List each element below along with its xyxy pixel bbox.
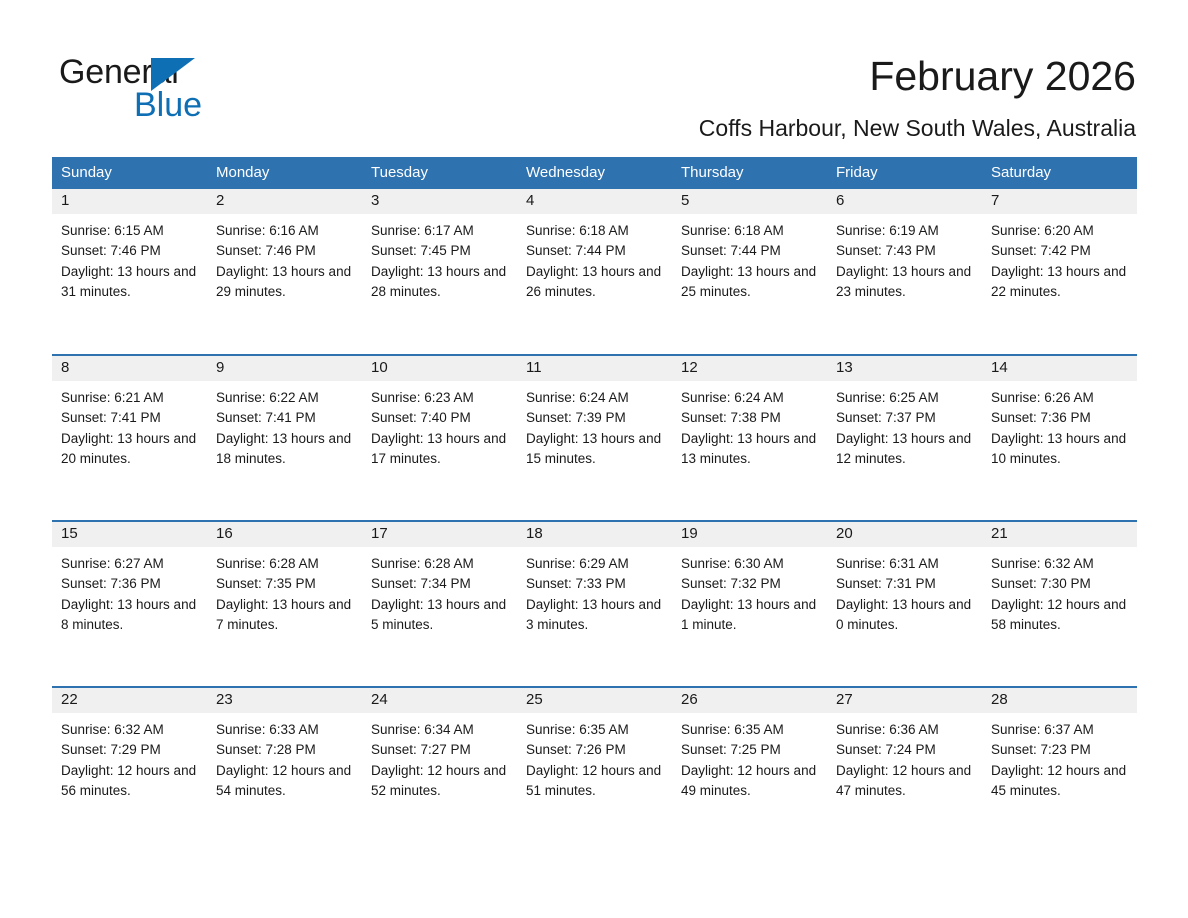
day-details: Sunrise: 6:18 AM Sunset: 7:44 PM Dayligh… [517, 214, 672, 302]
day-cell[interactable]: 10 Sunrise: 6:23 AM Sunset: 7:40 PM Dayl… [362, 355, 517, 521]
calendar-week-row: 22 Sunrise: 6:32 AM Sunset: 7:29 PM Dayl… [52, 687, 1137, 853]
sunrise-text: Sunrise: 6:35 AM [681, 720, 821, 740]
sunrise-text: Sunrise: 6:35 AM [526, 720, 666, 740]
sunrise-text: Sunrise: 6:31 AM [836, 554, 976, 574]
sunrise-text: Sunrise: 6:29 AM [526, 554, 666, 574]
sunrise-text: Sunrise: 6:27 AM [61, 554, 201, 574]
sunset-text: Sunset: 7:44 PM [526, 241, 666, 261]
daylight-text: Daylight: 13 hours and 5 minutes. [371, 595, 511, 636]
day-cell[interactable]: 16 Sunrise: 6:28 AM Sunset: 7:35 PM Dayl… [207, 521, 362, 687]
day-details: Sunrise: 6:31 AM Sunset: 7:31 PM Dayligh… [827, 547, 982, 635]
day-cell[interactable]: 11 Sunrise: 6:24 AM Sunset: 7:39 PM Dayl… [517, 355, 672, 521]
day-cell[interactable]: 7 Sunrise: 6:20 AM Sunset: 7:42 PM Dayli… [982, 189, 1137, 355]
calendar-page: General Blue February 2026 Coffs Harbour… [0, 0, 1188, 918]
day-number: 24 [362, 688, 517, 713]
daylight-text: Daylight: 13 hours and 23 minutes. [836, 262, 976, 303]
day-details: Sunrise: 6:24 AM Sunset: 7:39 PM Dayligh… [517, 381, 672, 469]
daylight-text: Daylight: 13 hours and 18 minutes. [216, 429, 356, 470]
sunset-text: Sunset: 7:31 PM [836, 574, 976, 594]
sunset-text: Sunset: 7:36 PM [61, 574, 201, 594]
daylight-text: Daylight: 12 hours and 52 minutes. [371, 761, 511, 802]
day-number: 6 [827, 189, 982, 214]
day-details: Sunrise: 6:21 AM Sunset: 7:41 PM Dayligh… [52, 381, 207, 469]
calendar-header-row: Sunday Monday Tuesday Wednesday Thursday… [52, 157, 1137, 189]
day-number: 9 [207, 356, 362, 381]
day-cell[interactable]: 3 Sunrise: 6:17 AM Sunset: 7:45 PM Dayli… [362, 189, 517, 355]
day-number: 4 [517, 189, 672, 214]
day-details: Sunrise: 6:28 AM Sunset: 7:35 PM Dayligh… [207, 547, 362, 635]
daylight-text: Daylight: 13 hours and 31 minutes. [61, 262, 201, 303]
day-details: Sunrise: 6:36 AM Sunset: 7:24 PM Dayligh… [827, 713, 982, 801]
day-cell[interactable]: 9 Sunrise: 6:22 AM Sunset: 7:41 PM Dayli… [207, 355, 362, 521]
sunset-text: Sunset: 7:37 PM [836, 408, 976, 428]
daylight-text: Daylight: 13 hours and 12 minutes. [836, 429, 976, 470]
day-number: 19 [672, 522, 827, 547]
day-number: 27 [827, 688, 982, 713]
day-cell[interactable]: 25 Sunrise: 6:35 AM Sunset: 7:26 PM Dayl… [517, 687, 672, 853]
daylight-text: Daylight: 13 hours and 26 minutes. [526, 262, 666, 303]
day-cell[interactable]: 22 Sunrise: 6:32 AM Sunset: 7:29 PM Dayl… [52, 687, 207, 853]
sunset-text: Sunset: 7:38 PM [681, 408, 821, 428]
daylight-text: Daylight: 12 hours and 51 minutes. [526, 761, 666, 802]
day-number: 2 [207, 189, 362, 214]
day-cell[interactable]: 1 Sunrise: 6:15 AM Sunset: 7:46 PM Dayli… [52, 189, 207, 355]
sunrise-text: Sunrise: 6:22 AM [216, 388, 356, 408]
weekday-header-monday: Monday [207, 157, 362, 189]
sunset-text: Sunset: 7:45 PM [371, 241, 511, 261]
daylight-text: Daylight: 13 hours and 15 minutes. [526, 429, 666, 470]
daylight-text: Daylight: 13 hours and 8 minutes. [61, 595, 201, 636]
weekday-header-wednesday: Wednesday [517, 157, 672, 189]
day-details: Sunrise: 6:35 AM Sunset: 7:25 PM Dayligh… [672, 713, 827, 801]
page-title: February 2026 [869, 52, 1136, 100]
daylight-text: Daylight: 13 hours and 20 minutes. [61, 429, 201, 470]
daylight-text: Daylight: 12 hours and 56 minutes. [61, 761, 201, 802]
day-number: 20 [827, 522, 982, 547]
day-number: 18 [517, 522, 672, 547]
daylight-text: Daylight: 13 hours and 3 minutes. [526, 595, 666, 636]
calendar-body: 1 Sunrise: 6:15 AM Sunset: 7:46 PM Dayli… [52, 189, 1137, 853]
day-cell[interactable]: 28 Sunrise: 6:37 AM Sunset: 7:23 PM Dayl… [982, 687, 1137, 853]
sunset-text: Sunset: 7:36 PM [991, 408, 1131, 428]
day-details: Sunrise: 6:18 AM Sunset: 7:44 PM Dayligh… [672, 214, 827, 302]
day-number: 3 [362, 189, 517, 214]
sunset-text: Sunset: 7:28 PM [216, 740, 356, 760]
daylight-text: Daylight: 13 hours and 7 minutes. [216, 595, 356, 636]
day-details: Sunrise: 6:33 AM Sunset: 7:28 PM Dayligh… [207, 713, 362, 801]
sunrise-text: Sunrise: 6:17 AM [371, 221, 511, 241]
sunrise-text: Sunrise: 6:28 AM [371, 554, 511, 574]
sunrise-text: Sunrise: 6:23 AM [371, 388, 511, 408]
daylight-text: Daylight: 13 hours and 28 minutes. [371, 262, 511, 303]
day-details: Sunrise: 6:20 AM Sunset: 7:42 PM Dayligh… [982, 214, 1137, 302]
sunset-text: Sunset: 7:46 PM [216, 241, 356, 261]
day-number: 5 [672, 189, 827, 214]
calendar-week-row: 1 Sunrise: 6:15 AM Sunset: 7:46 PM Dayli… [52, 189, 1137, 355]
generalblue-logo[interactable]: General Blue [59, 52, 269, 124]
page-header: General Blue February 2026 Coffs Harbour… [0, 0, 1188, 150]
sunset-text: Sunset: 7:30 PM [991, 574, 1131, 594]
day-details: Sunrise: 6:30 AM Sunset: 7:32 PM Dayligh… [672, 547, 827, 635]
sunset-text: Sunset: 7:41 PM [216, 408, 356, 428]
day-details: Sunrise: 6:29 AM Sunset: 7:33 PM Dayligh… [517, 547, 672, 635]
day-details: Sunrise: 6:16 AM Sunset: 7:46 PM Dayligh… [207, 214, 362, 302]
sunrise-text: Sunrise: 6:19 AM [836, 221, 976, 241]
calendar-week-row: 15 Sunrise: 6:27 AM Sunset: 7:36 PM Dayl… [52, 521, 1137, 687]
day-number: 28 [982, 688, 1137, 713]
day-number: 15 [52, 522, 207, 547]
day-details: Sunrise: 6:32 AM Sunset: 7:29 PM Dayligh… [52, 713, 207, 801]
sunset-text: Sunset: 7:29 PM [61, 740, 201, 760]
day-details: Sunrise: 6:22 AM Sunset: 7:41 PM Dayligh… [207, 381, 362, 469]
day-number: 14 [982, 356, 1137, 381]
calendar-table: Sunday Monday Tuesday Wednesday Thursday… [52, 157, 1137, 853]
sunrise-text: Sunrise: 6:25 AM [836, 388, 976, 408]
daylight-text: Daylight: 12 hours and 45 minutes. [991, 761, 1131, 802]
daylight-text: Daylight: 13 hours and 29 minutes. [216, 262, 356, 303]
day-number: 10 [362, 356, 517, 381]
sunrise-text: Sunrise: 6:26 AM [991, 388, 1131, 408]
weekday-header-sunday: Sunday [52, 157, 207, 189]
logo-text-blue: Blue [134, 85, 202, 125]
day-number: 25 [517, 688, 672, 713]
day-cell[interactable]: 2 Sunrise: 6:16 AM Sunset: 7:46 PM Dayli… [207, 189, 362, 355]
sunset-text: Sunset: 7:27 PM [371, 740, 511, 760]
sunset-text: Sunset: 7:35 PM [216, 574, 356, 594]
sunset-text: Sunset: 7:44 PM [681, 241, 821, 261]
day-number: 7 [982, 189, 1137, 214]
day-details: Sunrise: 6:19 AM Sunset: 7:43 PM Dayligh… [827, 214, 982, 302]
day-cell[interactable]: 21 Sunrise: 6:32 AM Sunset: 7:30 PM Dayl… [982, 521, 1137, 687]
sunrise-text: Sunrise: 6:34 AM [371, 720, 511, 740]
day-number: 16 [207, 522, 362, 547]
daylight-text: Daylight: 12 hours and 54 minutes. [216, 761, 356, 802]
location-subtitle: Coffs Harbour, New South Wales, Australi… [699, 114, 1136, 142]
day-cell[interactable]: 5 Sunrise: 6:18 AM Sunset: 7:44 PM Dayli… [672, 189, 827, 355]
sunset-text: Sunset: 7:46 PM [61, 241, 201, 261]
sunrise-text: Sunrise: 6:16 AM [216, 221, 356, 241]
sunset-text: Sunset: 7:39 PM [526, 408, 666, 428]
day-details: Sunrise: 6:26 AM Sunset: 7:36 PM Dayligh… [982, 381, 1137, 469]
daylight-text: Daylight: 12 hours and 47 minutes. [836, 761, 976, 802]
day-details: Sunrise: 6:15 AM Sunset: 7:46 PM Dayligh… [52, 214, 207, 302]
sunset-text: Sunset: 7:41 PM [61, 408, 201, 428]
day-cell[interactable]: 13 Sunrise: 6:25 AM Sunset: 7:37 PM Dayl… [827, 355, 982, 521]
daylight-text: Daylight: 13 hours and 17 minutes. [371, 429, 511, 470]
sunrise-text: Sunrise: 6:24 AM [526, 388, 666, 408]
day-details: Sunrise: 6:28 AM Sunset: 7:34 PM Dayligh… [362, 547, 517, 635]
day-details: Sunrise: 6:34 AM Sunset: 7:27 PM Dayligh… [362, 713, 517, 801]
weekday-header-saturday: Saturday [982, 157, 1137, 189]
sunset-text: Sunset: 7:34 PM [371, 574, 511, 594]
daylight-text: Daylight: 13 hours and 0 minutes. [836, 595, 976, 636]
day-cell[interactable]: 27 Sunrise: 6:36 AM Sunset: 7:24 PM Dayl… [827, 687, 982, 853]
day-number: 17 [362, 522, 517, 547]
day-cell[interactable]: 8 Sunrise: 6:21 AM Sunset: 7:41 PM Dayli… [52, 355, 207, 521]
day-details: Sunrise: 6:35 AM Sunset: 7:26 PM Dayligh… [517, 713, 672, 801]
sunset-text: Sunset: 7:43 PM [836, 241, 976, 261]
day-cell[interactable]: 15 Sunrise: 6:27 AM Sunset: 7:36 PM Dayl… [52, 521, 207, 687]
weekday-header-thursday: Thursday [672, 157, 827, 189]
sunrise-text: Sunrise: 6:24 AM [681, 388, 821, 408]
sunrise-text: Sunrise: 6:21 AM [61, 388, 201, 408]
day-number: 21 [982, 522, 1137, 547]
sunset-text: Sunset: 7:24 PM [836, 740, 976, 760]
day-cell[interactable]: 23 Sunrise: 6:33 AM Sunset: 7:28 PM Dayl… [207, 687, 362, 853]
sunrise-text: Sunrise: 6:15 AM [61, 221, 201, 241]
day-cell[interactable]: 24 Sunrise: 6:34 AM Sunset: 7:27 PM Dayl… [362, 687, 517, 853]
day-details: Sunrise: 6:32 AM Sunset: 7:30 PM Dayligh… [982, 547, 1137, 635]
sunset-text: Sunset: 7:42 PM [991, 241, 1131, 261]
sunset-text: Sunset: 7:26 PM [526, 740, 666, 760]
day-details: Sunrise: 6:24 AM Sunset: 7:38 PM Dayligh… [672, 381, 827, 469]
weekday-header-tuesday: Tuesday [362, 157, 517, 189]
daylight-text: Daylight: 13 hours and 25 minutes. [681, 262, 821, 303]
day-number: 8 [52, 356, 207, 381]
day-cell[interactable]: 18 Sunrise: 6:29 AM Sunset: 7:33 PM Dayl… [517, 521, 672, 687]
weekday-header-friday: Friday [827, 157, 982, 189]
day-cell[interactable]: 20 Sunrise: 6:31 AM Sunset: 7:31 PM Dayl… [827, 521, 982, 687]
day-details: Sunrise: 6:27 AM Sunset: 7:36 PM Dayligh… [52, 547, 207, 635]
daylight-text: Daylight: 13 hours and 13 minutes. [681, 429, 821, 470]
sunset-text: Sunset: 7:23 PM [991, 740, 1131, 760]
sunrise-text: Sunrise: 6:33 AM [216, 720, 356, 740]
day-cell[interactable]: 4 Sunrise: 6:18 AM Sunset: 7:44 PM Dayli… [517, 189, 672, 355]
day-cell[interactable]: 19 Sunrise: 6:30 AM Sunset: 7:32 PM Dayl… [672, 521, 827, 687]
daylight-text: Daylight: 13 hours and 10 minutes. [991, 429, 1131, 470]
day-number: 12 [672, 356, 827, 381]
sunrise-text: Sunrise: 6:28 AM [216, 554, 356, 574]
sunset-text: Sunset: 7:40 PM [371, 408, 511, 428]
day-number: 22 [52, 688, 207, 713]
sunrise-text: Sunrise: 6:36 AM [836, 720, 976, 740]
day-number: 26 [672, 688, 827, 713]
day-number: 23 [207, 688, 362, 713]
day-details: Sunrise: 6:23 AM Sunset: 7:40 PM Dayligh… [362, 381, 517, 469]
sunrise-text: Sunrise: 6:18 AM [681, 221, 821, 241]
sunrise-text: Sunrise: 6:32 AM [61, 720, 201, 740]
daylight-text: Daylight: 13 hours and 1 minute. [681, 595, 821, 636]
sunset-text: Sunset: 7:32 PM [681, 574, 821, 594]
day-cell[interactable]: 17 Sunrise: 6:28 AM Sunset: 7:34 PM Dayl… [362, 521, 517, 687]
sunset-text: Sunset: 7:25 PM [681, 740, 821, 760]
daylight-text: Daylight: 12 hours and 58 minutes. [991, 595, 1131, 636]
sunset-text: Sunset: 7:33 PM [526, 574, 666, 594]
daylight-text: Daylight: 13 hours and 22 minutes. [991, 262, 1131, 303]
daylight-text: Daylight: 12 hours and 49 minutes. [681, 761, 821, 802]
sunrise-text: Sunrise: 6:37 AM [991, 720, 1131, 740]
sunrise-text: Sunrise: 6:20 AM [991, 221, 1131, 241]
sunrise-text: Sunrise: 6:32 AM [991, 554, 1131, 574]
day-cell[interactable]: 26 Sunrise: 6:35 AM Sunset: 7:25 PM Dayl… [672, 687, 827, 853]
calendar-week-row: 8 Sunrise: 6:21 AM Sunset: 7:41 PM Dayli… [52, 355, 1137, 521]
day-cell[interactable]: 12 Sunrise: 6:24 AM Sunset: 7:38 PM Dayl… [672, 355, 827, 521]
sunrise-text: Sunrise: 6:18 AM [526, 221, 666, 241]
day-cell[interactable]: 6 Sunrise: 6:19 AM Sunset: 7:43 PM Dayli… [827, 189, 982, 355]
day-details: Sunrise: 6:37 AM Sunset: 7:23 PM Dayligh… [982, 713, 1137, 801]
day-cell[interactable]: 14 Sunrise: 6:26 AM Sunset: 7:36 PM Dayl… [982, 355, 1137, 521]
day-details: Sunrise: 6:17 AM Sunset: 7:45 PM Dayligh… [362, 214, 517, 302]
sunrise-text: Sunrise: 6:30 AM [681, 554, 821, 574]
day-details: Sunrise: 6:25 AM Sunset: 7:37 PM Dayligh… [827, 381, 982, 469]
day-number: 13 [827, 356, 982, 381]
day-number: 1 [52, 189, 207, 214]
day-number: 11 [517, 356, 672, 381]
